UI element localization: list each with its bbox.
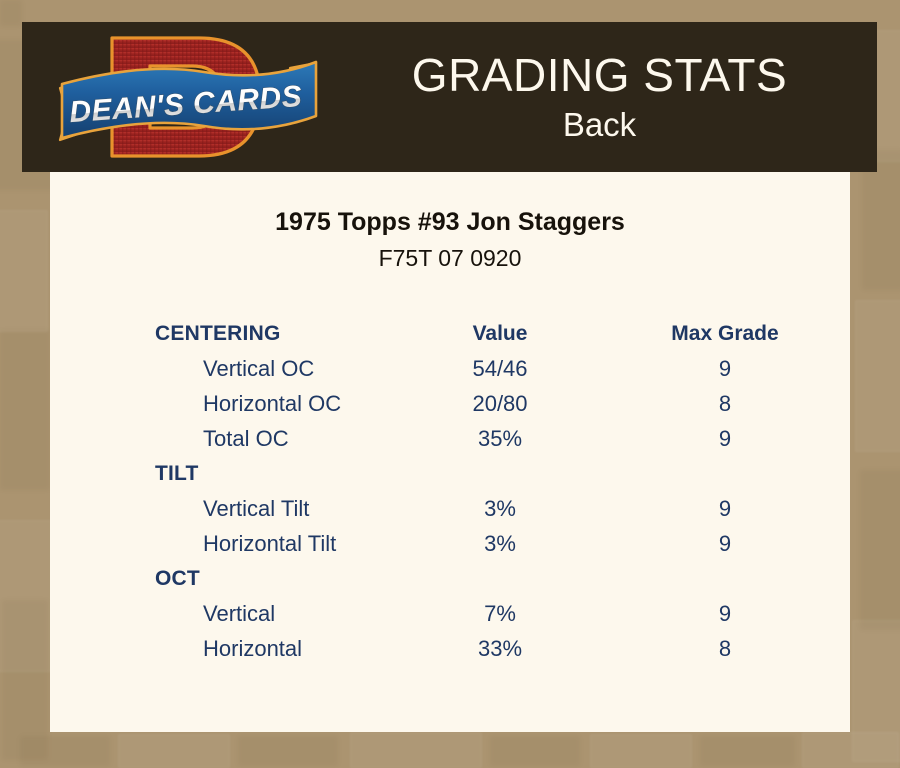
- row-grade: 9: [650, 351, 800, 386]
- column-header-max-grade: Max Grade: [650, 316, 800, 351]
- card-title: 1975 Topps #93 Jon Staggers: [50, 206, 850, 238]
- row-label: Vertical Tilt: [203, 491, 309, 526]
- logo-graphic: DEAN'S CARDS: [54, 28, 322, 168]
- grading-stats-table: CENTERING Value Max Grade Vertical OC 54…: [50, 316, 850, 666]
- page-title: GRADING STATS: [412, 48, 787, 102]
- table-row: Horizontal 33% 8: [50, 631, 850, 666]
- row-value: 33%: [425, 631, 575, 666]
- row-label: Total OC: [203, 421, 289, 456]
- row-grade: 9: [650, 526, 800, 561]
- table-row: Total OC 35% 9: [50, 421, 850, 456]
- header-titles: GRADING STATS Back: [322, 22, 877, 172]
- section-title-oct: OCT: [155, 561, 200, 596]
- table-row: Vertical 7% 9: [50, 596, 850, 631]
- row-label: Horizontal: [203, 631, 302, 666]
- row-label: Vertical: [203, 596, 275, 631]
- row-label: Vertical OC: [203, 351, 314, 386]
- row-value: 3%: [425, 526, 575, 561]
- table-row: Vertical Tilt 3% 9: [50, 491, 850, 526]
- table-header-row: CENTERING Value Max Grade: [50, 316, 850, 351]
- table-row: Horizontal Tilt 3% 9: [50, 526, 850, 561]
- row-grade: 9: [650, 596, 800, 631]
- stats-panel: 1975 Topps #93 Jon Staggers F75T 07 0920…: [50, 168, 850, 732]
- table-row: Vertical OC 54/46 9: [50, 351, 850, 386]
- row-value: 7%: [425, 596, 575, 631]
- row-grade: 8: [650, 631, 800, 666]
- table-row: Horizontal OC 20/80 8: [50, 386, 850, 421]
- card-identity: 1975 Topps #93 Jon Staggers F75T 07 0920: [50, 206, 850, 274]
- header-bar: DEAN'S CARDS GRADING STATS Back: [22, 22, 877, 172]
- row-grade: 8: [650, 386, 800, 421]
- row-grade: 9: [650, 421, 800, 456]
- row-value: 54/46: [425, 351, 575, 386]
- row-label: Horizontal Tilt: [203, 526, 336, 561]
- page-subtitle: Back: [563, 104, 636, 146]
- section-title-centering: CENTERING: [155, 316, 280, 351]
- row-label: Horizontal OC: [203, 386, 341, 421]
- column-header-value: Value: [425, 316, 575, 351]
- row-value: 20/80: [425, 386, 575, 421]
- deans-cards-logo: DEAN'S CARDS: [54, 28, 322, 168]
- section-header-oct: OCT: [50, 561, 850, 596]
- row-value: 35%: [425, 421, 575, 456]
- card-code: F75T 07 0920: [50, 242, 850, 274]
- section-title-tilt: TILT: [155, 456, 199, 491]
- row-grade: 9: [650, 491, 800, 526]
- row-value: 3%: [425, 491, 575, 526]
- section-header-tilt: TILT: [50, 456, 850, 491]
